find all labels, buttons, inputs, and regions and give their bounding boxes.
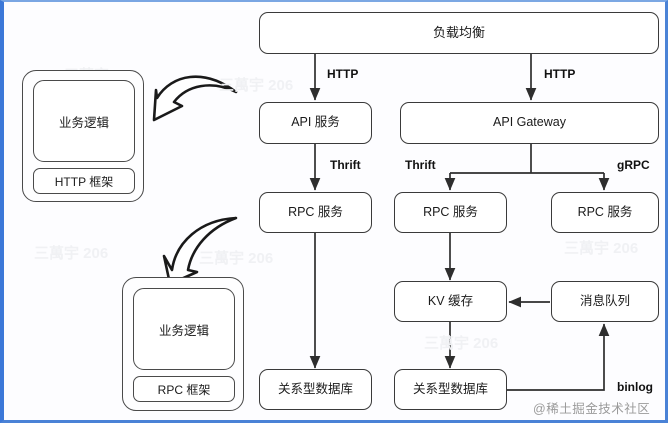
- node-load-balancer[interactable]: 负载均衡: [259, 12, 659, 54]
- background-watermark: 三萬宇 206: [199, 247, 273, 268]
- node-message-queue[interactable]: 消息队列: [551, 281, 659, 322]
- panel-http-framework: HTTP 框架: [33, 168, 135, 194]
- panel-rpc-framework: RPC 框架: [133, 376, 235, 402]
- panel-http-business-logic: 业务逻辑: [33, 80, 135, 162]
- background-watermark: 三萬宇 206: [564, 237, 638, 258]
- background-watermark: 三萬宇 206: [34, 242, 108, 263]
- node-rpc-service-left[interactable]: RPC 服务: [259, 192, 372, 233]
- node-database-mid[interactable]: 关系型数据库: [394, 369, 507, 410]
- node-api-gateway[interactable]: API Gateway: [400, 102, 659, 144]
- node-kv-cache[interactable]: KV 缓存: [394, 281, 507, 322]
- edge-label-grpc-right: gRPC: [617, 158, 650, 172]
- panel-rpc-stack: 业务逻辑 RPC 框架: [122, 277, 244, 411]
- edge-label-http-right: HTTP: [544, 67, 575, 81]
- edge-label-binlog: binlog: [617, 380, 653, 394]
- node-api-service[interactable]: API 服务: [259, 102, 372, 144]
- community-watermark: @稀土掘金技术社区: [533, 398, 650, 417]
- node-rpc-service-mid[interactable]: RPC 服务: [394, 192, 507, 233]
- diagram-canvas: 三萬宇 206 三萬宇 206 三萬宇 206 三萬宇 206 三萬宇 206 …: [0, 0, 668, 423]
- panel-rpc-business-logic: 业务逻辑: [133, 288, 235, 370]
- node-rpc-service-right[interactable]: RPC 服务: [551, 192, 659, 233]
- edge-label-thrift-left: Thrift: [330, 158, 361, 172]
- background-watermark: 三萬宇 206: [424, 332, 498, 353]
- edge-label-http-left: HTTP: [327, 67, 358, 81]
- edge-label-thrift-mid: Thrift: [405, 158, 436, 172]
- panel-http-stack: 业务逻辑 HTTP 框架: [22, 70, 144, 202]
- background-watermark: 三萬宇 206: [219, 74, 293, 95]
- node-database-left[interactable]: 关系型数据库: [259, 369, 372, 410]
